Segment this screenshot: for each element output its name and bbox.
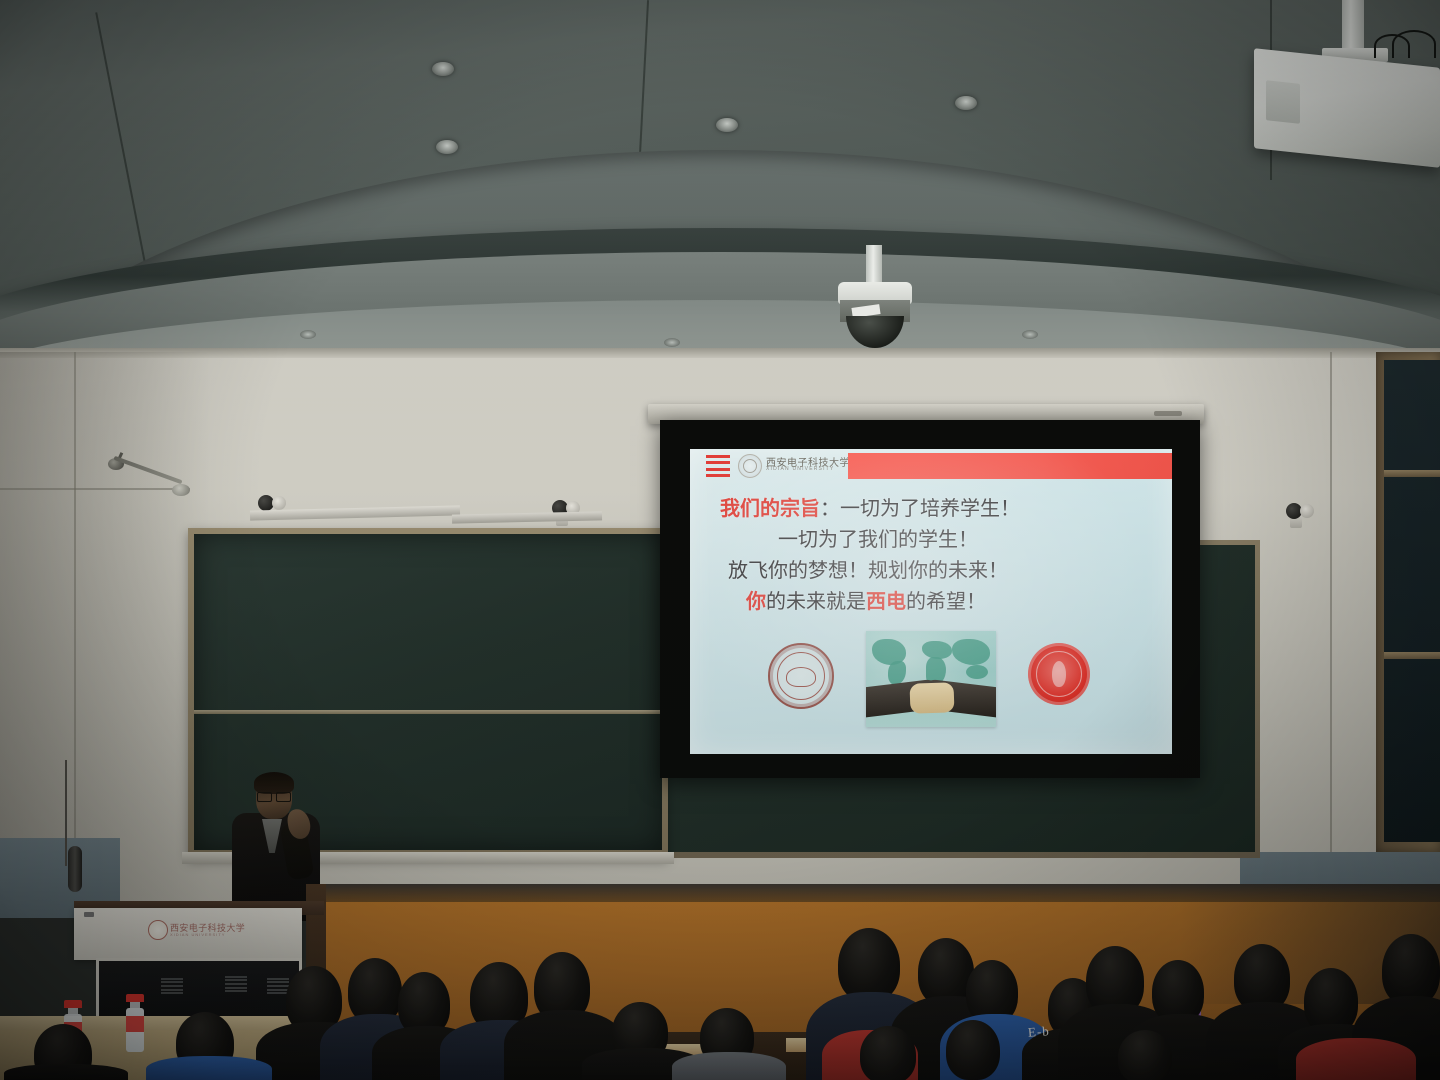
header-stripes-icon	[706, 455, 730, 477]
slide-line-2: 一切为了我们的学生！	[690, 524, 1172, 555]
audience-shoulders	[4, 1064, 128, 1080]
slide-body: 我们的宗旨：一切为了培养学生！ 一切为了我们的学生！ 放飞你的梦想！规划你的未来…	[690, 493, 1172, 617]
window-glass	[1384, 360, 1440, 842]
map-landmass	[888, 661, 906, 685]
wall-seam	[74, 352, 76, 882]
recessed-light	[716, 118, 738, 132]
ceiling-fixture	[1022, 330, 1038, 339]
slide-line-4-accent-2: 西电	[866, 589, 906, 613]
handshake-world-map-photo	[866, 631, 996, 727]
slide-header: 西安电子科技大学 XIDIAN UNIVERSITY	[690, 453, 1172, 479]
recessed-light	[436, 140, 458, 154]
shirt-graphic-text: E-b	[1027, 1023, 1050, 1040]
bottle-label	[126, 1016, 144, 1032]
slide-line-4-mid: 的未来就是	[766, 589, 866, 613]
water-bottle[interactable]	[126, 994, 144, 1052]
lectern-university-seal-icon	[148, 920, 168, 940]
audience-head	[860, 1026, 916, 1080]
map-landmass	[966, 665, 988, 679]
handshake-clasp	[909, 682, 954, 714]
lecture-hall-scene: 西安电子科技大学 XIDIAN UNIVERSITY 我们的宗旨：一切为了培养学…	[0, 0, 1440, 1080]
slide-university-name-en: XIDIAN UNIVERSITY	[766, 466, 834, 472]
wall-seam	[1330, 352, 1332, 852]
ceiling	[0, 0, 1440, 380]
slide-line-1: 我们的宗旨：一切为了培养学生！	[690, 493, 1172, 524]
audience-head	[838, 928, 900, 1002]
window-mullion	[1384, 470, 1440, 477]
phone-cord	[65, 760, 67, 866]
slide-line-4-text: 的希望！	[906, 589, 986, 613]
glasses-icon	[257, 792, 291, 800]
screen-housing-label	[1154, 411, 1182, 416]
slide-line-4-accent-1: 你	[746, 589, 766, 613]
wall-camera-mount	[1300, 504, 1314, 518]
recessed-light	[432, 62, 454, 76]
lamp-base	[172, 484, 190, 496]
audience-shoulders	[1296, 1038, 1416, 1080]
ceiling-seam	[95, 12, 147, 268]
wall-seam	[0, 488, 190, 490]
ceiling-fixture	[300, 330, 316, 339]
audience-shoulders	[672, 1052, 786, 1080]
projector-mount-pole	[1342, 0, 1364, 52]
slide-line-1-text: ：一切为了培养学生！	[820, 496, 1020, 520]
audience-shoulders	[146, 1056, 272, 1080]
ceiling-fixture	[664, 338, 680, 347]
brown-academic-seal-icon	[768, 643, 834, 709]
slide-line-2-text: 一切为了我们的学生！	[778, 527, 978, 551]
map-landmass	[952, 639, 990, 665]
projection-screen[interactable]: 西安电子科技大学 XIDIAN UNIVERSITY 我们的宗旨：一切为了培养学…	[660, 420, 1200, 778]
slide-line-4: 你的未来就是西电的希望！	[690, 586, 1172, 617]
right-wall-window	[1376, 352, 1440, 852]
lectern-university-name-en: XIDIAN UNIVERSITY	[170, 932, 225, 937]
vent-grille	[225, 975, 247, 993]
chalkboard-divider	[194, 710, 662, 714]
audience-head	[1118, 1030, 1172, 1080]
camera-mount-pole	[866, 245, 882, 287]
wall-shadow	[0, 352, 210, 912]
projector-vent	[1266, 80, 1300, 124]
bottle-cap	[126, 994, 144, 1002]
window-mullion	[1384, 652, 1440, 659]
recessed-light	[955, 96, 977, 110]
wall-camera-mount	[272, 496, 286, 510]
presentation-slide: 西安电子科技大学 XIDIAN UNIVERSITY 我们的宗旨：一切为了培养学…	[690, 449, 1172, 754]
slide-header-band	[848, 453, 1172, 479]
wall-phone-icon[interactable]	[68, 846, 82, 892]
slide-line-3: 放飞你的梦想！规划你的未来！	[690, 555, 1172, 586]
slide-figures	[690, 631, 1172, 729]
slide-line-3-text: 放飞你的梦想！规划你的未来！	[728, 558, 1008, 582]
lectern-badge	[84, 912, 94, 917]
presenter-hair	[254, 772, 294, 794]
projector-cable	[1392, 30, 1436, 58]
red-circular-seal-icon	[1028, 643, 1090, 705]
xidian-university-seal-icon	[738, 454, 762, 478]
audience-head	[946, 1020, 1000, 1080]
slide-line-1-accent: 我们的宗旨	[720, 496, 820, 520]
bottle-cap	[64, 1000, 82, 1008]
vent-grille	[161, 977, 183, 995]
wall-top-trim	[0, 348, 1440, 358]
